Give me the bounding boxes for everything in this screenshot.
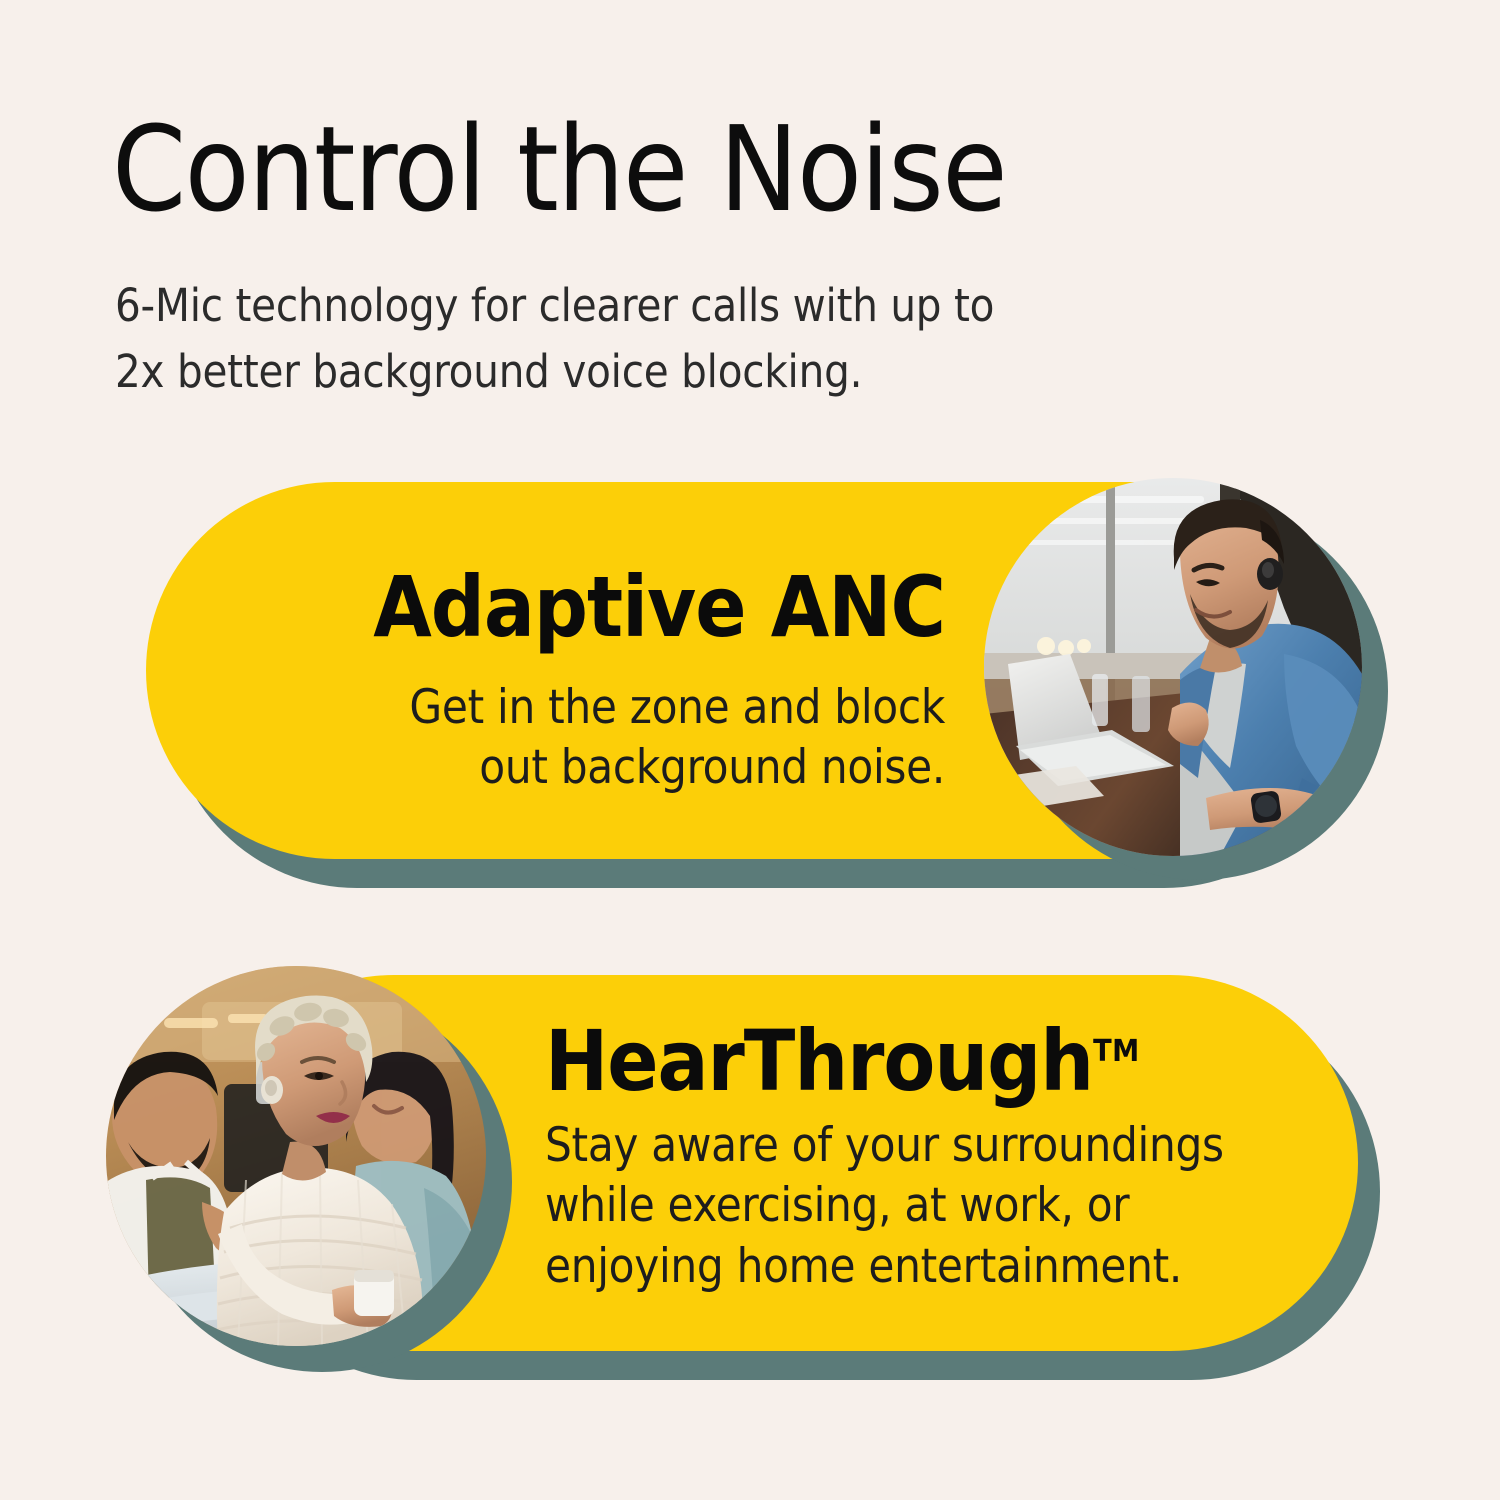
hearthrough-body-line-2: while exercising, at work, or: [545, 1176, 1285, 1236]
adaptive-anc-title: Adaptive ANC: [245, 566, 945, 648]
hearthrough-title: HearThroughTM: [545, 1020, 1285, 1102]
hearthrough-body: Stay aware of your surroundings while ex…: [545, 1116, 1285, 1296]
adaptive-anc-photo: [984, 478, 1362, 856]
page-title: Control the Noise: [112, 110, 1006, 228]
hearthrough-body-line-3: enjoying home entertainment.: [545, 1237, 1285, 1297]
page-subtitle-line-1: 6-Mic technology for clearer calls with …: [115, 273, 994, 339]
adaptive-anc-body-line-1: Get in the zone and block: [245, 678, 945, 738]
adaptive-anc-text-block: Adaptive ANC Get in the zone and block o…: [245, 566, 945, 799]
hearthrough-body-line-1: Stay aware of your surroundings: [545, 1116, 1285, 1176]
infographic-canvas: Control the Noise 6-Mic technology for c…: [0, 0, 1500, 1500]
adaptive-anc-body: Get in the zone and block out background…: [245, 678, 945, 798]
trademark-symbol: TM: [1093, 1034, 1140, 1069]
hearthrough-photo: [106, 966, 486, 1346]
adaptive-anc-body-line-2: out background noise.: [245, 738, 945, 798]
page-subtitle-line-2: 2x better background voice blocking.: [115, 339, 994, 405]
hearthrough-title-text: HearThrough: [545, 1012, 1093, 1110]
hearthrough-text-block: HearThroughTM Stay aware of your surroun…: [545, 1020, 1285, 1297]
page-subtitle: 6-Mic technology for clearer calls with …: [115, 273, 994, 404]
